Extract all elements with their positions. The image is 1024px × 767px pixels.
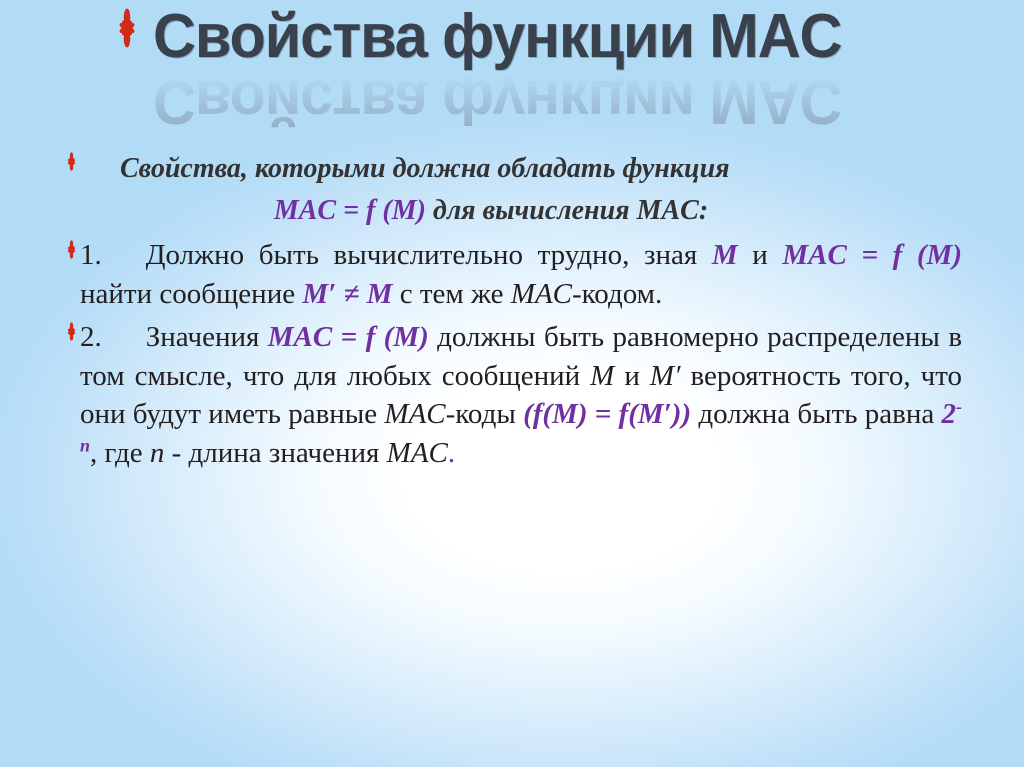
item2-symbol-m-prime: M′ bbox=[650, 360, 681, 392]
item2-mac-italic-2: MAC bbox=[387, 437, 448, 469]
slide: Свойства функции MAC Свойства функции MA… bbox=[0, 0, 1024, 767]
item-formula-mac: MAC = f (M) bbox=[782, 239, 962, 271]
item2-symbol-m: M bbox=[590, 360, 614, 392]
page-title: Свойства функции MAC bbox=[153, 6, 841, 68]
item2-symbol-n: n bbox=[150, 437, 165, 469]
lead-line-2-tail: для вычисления MAC: bbox=[426, 195, 708, 226]
item2-final-dot: . bbox=[448, 437, 455, 469]
item-number: 1. bbox=[80, 239, 102, 271]
item2-text-5: -коды bbox=[446, 398, 523, 430]
item2-power-base: 2 bbox=[942, 398, 957, 430]
item-text-2: и bbox=[738, 239, 783, 271]
item-mac-italic: MAC bbox=[511, 278, 572, 310]
item-symbol-m-prime: M′ ≠ M bbox=[302, 278, 392, 310]
list-item: 1.Должно быть вычислительно трудно, зная… bbox=[62, 236, 962, 314]
item-symbol-m: M bbox=[712, 239, 738, 271]
item2-text-6: должна быть равна bbox=[691, 398, 941, 430]
lead-formula: MAC = f (M) bbox=[274, 195, 426, 226]
item2-text-8: - длина значения bbox=[164, 437, 386, 469]
item2-text-1: Значения bbox=[146, 321, 268, 353]
item2-formula-mac: MAC = f (M) bbox=[268, 321, 429, 353]
title-row: Свойства функции MAC Свойства функции MA… bbox=[153, 6, 870, 132]
asterisk-icon bbox=[62, 240, 81, 259]
slide-title-block: Свойства функции MAC Свойства функции MA… bbox=[0, 6, 1024, 138]
item2-text-7: , где bbox=[90, 437, 150, 469]
asterisk-icon bbox=[107, 8, 147, 48]
item2-formula-equality: (f(M) = f(M′)) bbox=[523, 398, 691, 430]
item2-text-3: и bbox=[614, 360, 650, 392]
lead-line-1: Свойства, которыми должна обладать функц… bbox=[80, 148, 962, 190]
list-item: 2.Значения MAC = f (M) должны быть равно… bbox=[62, 318, 962, 473]
item-number: 2. bbox=[80, 321, 102, 353]
item-text-1: Должно быть вычислительно трудно, зная bbox=[146, 239, 712, 271]
page-title-reflection: Свойства функции MAC bbox=[153, 70, 841, 132]
slide-body: Свойства, которыми должна обладать функц… bbox=[62, 148, 962, 477]
item-text-4: с тем же bbox=[393, 278, 511, 310]
asterisk-icon bbox=[62, 322, 81, 341]
asterisk-icon bbox=[62, 152, 81, 171]
item2-mac-italic-1: MAC bbox=[384, 398, 445, 430]
item-text-3: найти сообщение bbox=[80, 278, 302, 310]
item-text-5: -кодом. bbox=[572, 278, 662, 310]
lead-paragraph: Свойства, которыми должна обладать функц… bbox=[62, 148, 962, 232]
lead-line-2: MAC = f (M) для вычисления MAC: bbox=[80, 190, 962, 232]
